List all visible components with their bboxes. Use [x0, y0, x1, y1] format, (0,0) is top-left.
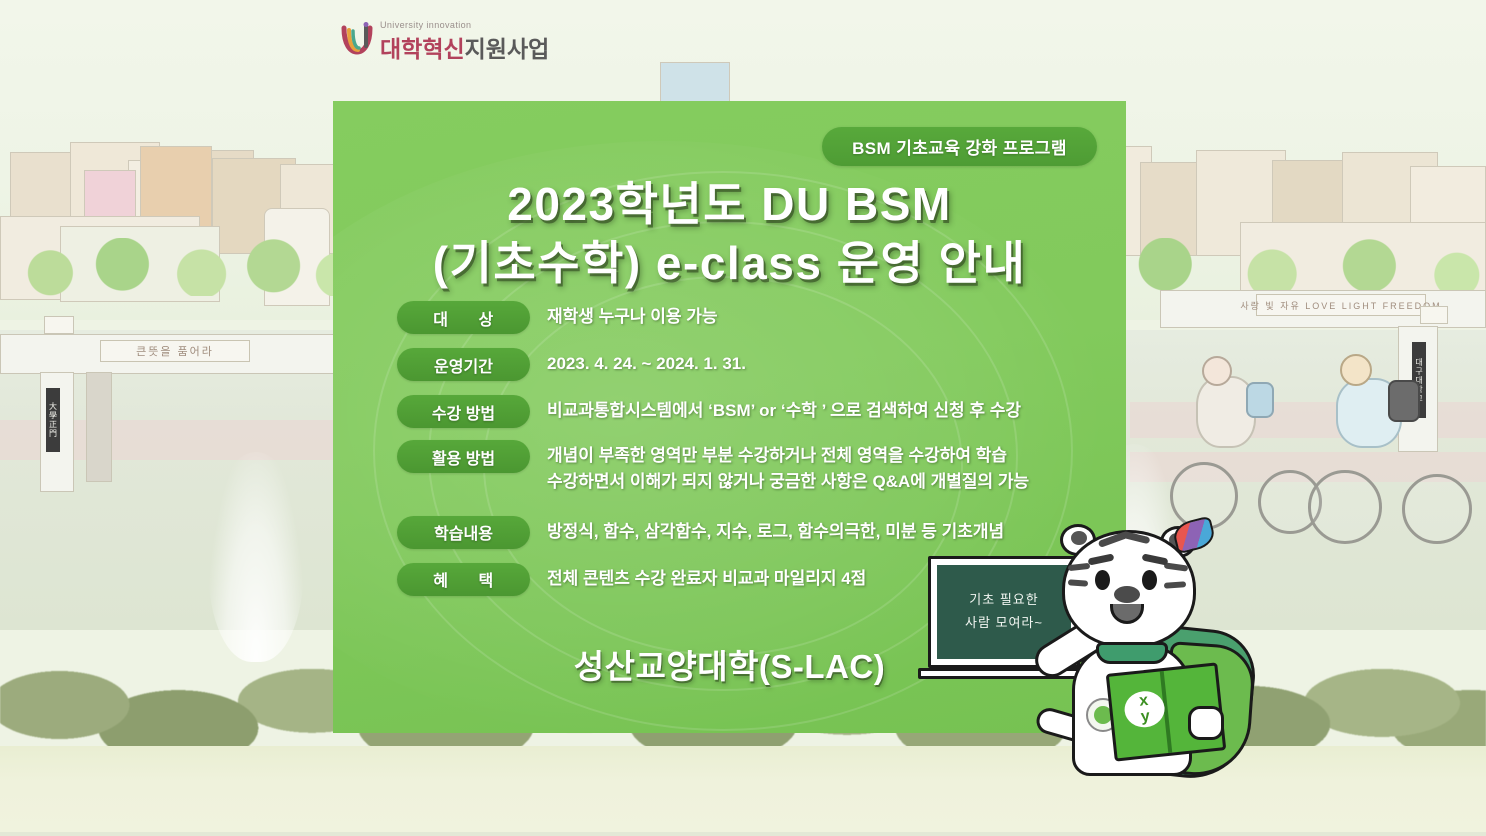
info-row: 활용 방법 개념이 부족한 영역만 부분 수강하거나 전체 영역을 수강하여 학…: [397, 440, 1097, 496]
info-label-part-a: 혜: [433, 567, 448, 591]
info-label-part-b: 택: [479, 567, 494, 591]
info-row-value-period: 2023. 4. 24. ~ 2024. 1. 31.: [530, 348, 1097, 377]
white-tiger-mascot: x y: [1038, 516, 1278, 776]
background-gate-pillar-left: [86, 372, 112, 482]
u-swoosh-mark-icon: [340, 22, 374, 58]
info-row: 수강 방법 비교과통합시스템에서 ‘BSM’ or ‘수학 ’ 으로 검색하여 …: [397, 395, 1097, 428]
info-row-value-target: 재학생 누구나 이용 가능: [530, 301, 1097, 330]
background-fountain-spray: [208, 452, 304, 662]
info-row-label-curriculum: 학습내용: [397, 516, 530, 549]
background-cyclist-head: [1340, 354, 1372, 386]
mascot-ear-inner-left: [1071, 531, 1087, 545]
mascot-eye-right: [1142, 570, 1157, 590]
page-title: 2023학년도 DU BSM (기초수학) e-class 운영 안내: [333, 175, 1126, 293]
mascot-eye-left: [1095, 570, 1110, 590]
info-row-value-enroll-method: 비교과통합시스템에서 ‘BSM’ or ‘수학 ’ 으로 검색하여 신청 후 수…: [530, 395, 1097, 424]
info-row-label-benefit: 혜택: [397, 563, 530, 596]
gate-sign-right: 사랑 빛 자유 LOVE LIGHT FREEDOM: [1256, 294, 1426, 316]
info-row-label-enroll-method: 수강 방법: [397, 395, 530, 428]
info-row: 학습내용 방정식, 함수, 삼각함수, 지수, 로그, 함수의극한, 미분 등 …: [397, 516, 1097, 549]
mascot-nose: [1114, 586, 1140, 603]
info-row-value-curriculum: 방정식, 함수, 삼각함수, 지수, 로그, 함수의극한, 미분 등 기초개념: [530, 516, 1097, 545]
info-value-usage-line-1: 개념이 부족한 영역만 부분 수강하거나 전체 영역을 수강하여 학습: [547, 443, 1097, 469]
mascot-scarf: [1096, 642, 1168, 664]
info-row-value-usage: 개념이 부족한 영역만 부분 수강하거나 전체 영역을 수강하여 학습 수강하면…: [530, 440, 1097, 496]
info-row: 대상 재학생 누구나 이용 가능: [397, 301, 1097, 334]
blackboard-line-1: 기초 필요한: [969, 589, 1038, 612]
background-cyclist-bag: [1246, 382, 1274, 418]
background-gate-box-right: [1420, 306, 1448, 324]
background-gate-box-left: [44, 316, 74, 334]
background-cyclist-head: [1202, 356, 1232, 386]
background-cyclist-wheel: [1308, 470, 1382, 544]
mascot-hand: [1188, 706, 1224, 740]
info-row-label-target: 대상: [397, 301, 530, 334]
page-title-line-1: 2023학년도 DU BSM: [333, 175, 1126, 234]
program-badge: BSM 기초교육 강화 프로그램: [822, 127, 1097, 166]
book-xy-label: x y: [1123, 689, 1167, 729]
background-tree-band: [0, 238, 360, 296]
university-innovation-logo: University innovation 대학혁신지원사업: [340, 18, 540, 64]
info-value-usage-line-2: 수강하면서 이해가 되지 않거나 궁금한 사항은 Q&A에 개별질의 가능: [547, 469, 1097, 495]
logo-english-text: University innovation: [380, 20, 471, 30]
background-bottom-bar: [0, 832, 1486, 836]
gate-pillar-label-left: 大學正門: [46, 388, 60, 452]
logo-korean-secondary: 지원사업: [465, 36, 550, 62]
book-label-y: y: [1140, 709, 1151, 726]
background-cyclist-wheel: [1402, 474, 1472, 544]
info-label-part-a: 대: [433, 306, 448, 330]
info-label-part-b: 상: [479, 306, 494, 330]
page-title-line-2: (기초수학) e-class 운영 안내: [333, 234, 1126, 293]
gate-sign-left: 큰뜻을 품어라: [100, 340, 250, 362]
info-row-label-usage: 활용 방법: [397, 440, 530, 473]
info-row: 운영기간 2023. 4. 24. ~ 2024. 1. 31.: [397, 348, 1097, 381]
blackboard-line-2: 사람 모여라~: [965, 612, 1043, 635]
background-cyclist-bag: [1388, 380, 1420, 422]
logo-korean-text: 대학혁신지원사업: [380, 30, 549, 64]
info-row-label-period: 운영기간: [397, 348, 530, 381]
logo-korean-primary: 대학혁신: [380, 36, 465, 62]
poster-image: 큰뜻을 품어라 大學正門 사랑 빛 자유 LOVE LIGHT FREEDOM …: [0, 0, 1486, 836]
